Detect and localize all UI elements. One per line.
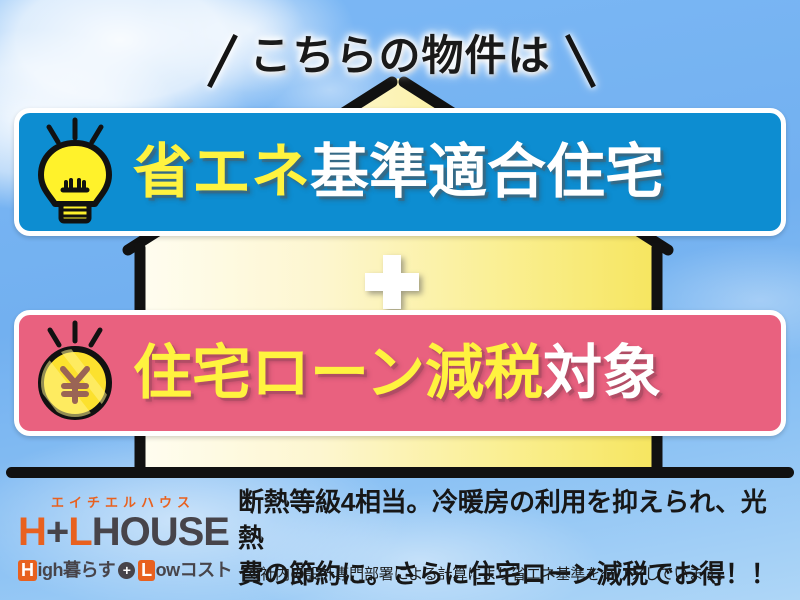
banner-loan-label: 住宅ローン減税対象 — [133, 344, 661, 403]
yen-coin-icon — [27, 317, 123, 429]
logo-word-house: HOUSE — [92, 510, 229, 554]
ground-line — [6, 467, 794, 478]
footnote-text: ※社内の設計専門部署による計算により省エネ基準をクリアしています。 — [248, 563, 793, 584]
logo-letter-plus: + — [46, 510, 68, 554]
plus-sign — [365, 255, 419, 309]
logo-letter-h: H — [18, 510, 46, 554]
logo-tagline-low-rest: owコスト — [156, 560, 233, 580]
logo-tagline-plus-icon: + — [118, 562, 135, 579]
yen-coin-icon-slot — [19, 317, 131, 429]
brand-logo[interactable]: エイチエルハウス H+LHOUSE High暮らす+Lowコスト — [18, 492, 228, 582]
logo-tagline-high-chip: H — [18, 560, 37, 581]
lightbulb-icon-slot — [19, 116, 131, 228]
banner-loan-tax-reduction[interactable]: 住宅ローン減税対象 — [14, 310, 786, 436]
logo-tagline-high-rest: igh暮らす — [38, 560, 116, 580]
banner-loan-label-rest: 対象 — [543, 340, 661, 406]
poster-canvas: こちらの物件は 省エネ基準適合住宅 — [0, 0, 800, 600]
banner-energy-label-rest: 基準適合住宅 — [310, 139, 664, 205]
description-line-1: 断熱等級4相当。冷暖房の利用を抑えられ、光熱 — [238, 485, 790, 557]
logo-tagline-low-chip: L — [138, 560, 155, 581]
headline-text: こちらの物件は — [0, 22, 800, 83]
lightbulb-icon — [27, 116, 123, 228]
banner-energy-label: 省エネ基準適合住宅 — [133, 143, 664, 202]
banner-energy-label-highlight: 省エネ — [133, 139, 310, 205]
banner-loan-label-highlight: 住宅ローン減税 — [133, 340, 543, 406]
logo-kana-reading: エイチエルハウス — [18, 492, 228, 511]
logo-letter-l: L — [68, 510, 91, 554]
logo-tagline: High暮らす+Lowコスト — [18, 556, 228, 582]
banner-energy-standard[interactable]: 省エネ基準適合住宅 — [14, 108, 786, 236]
logo-wordmark: H+LHOUSE — [18, 512, 228, 552]
